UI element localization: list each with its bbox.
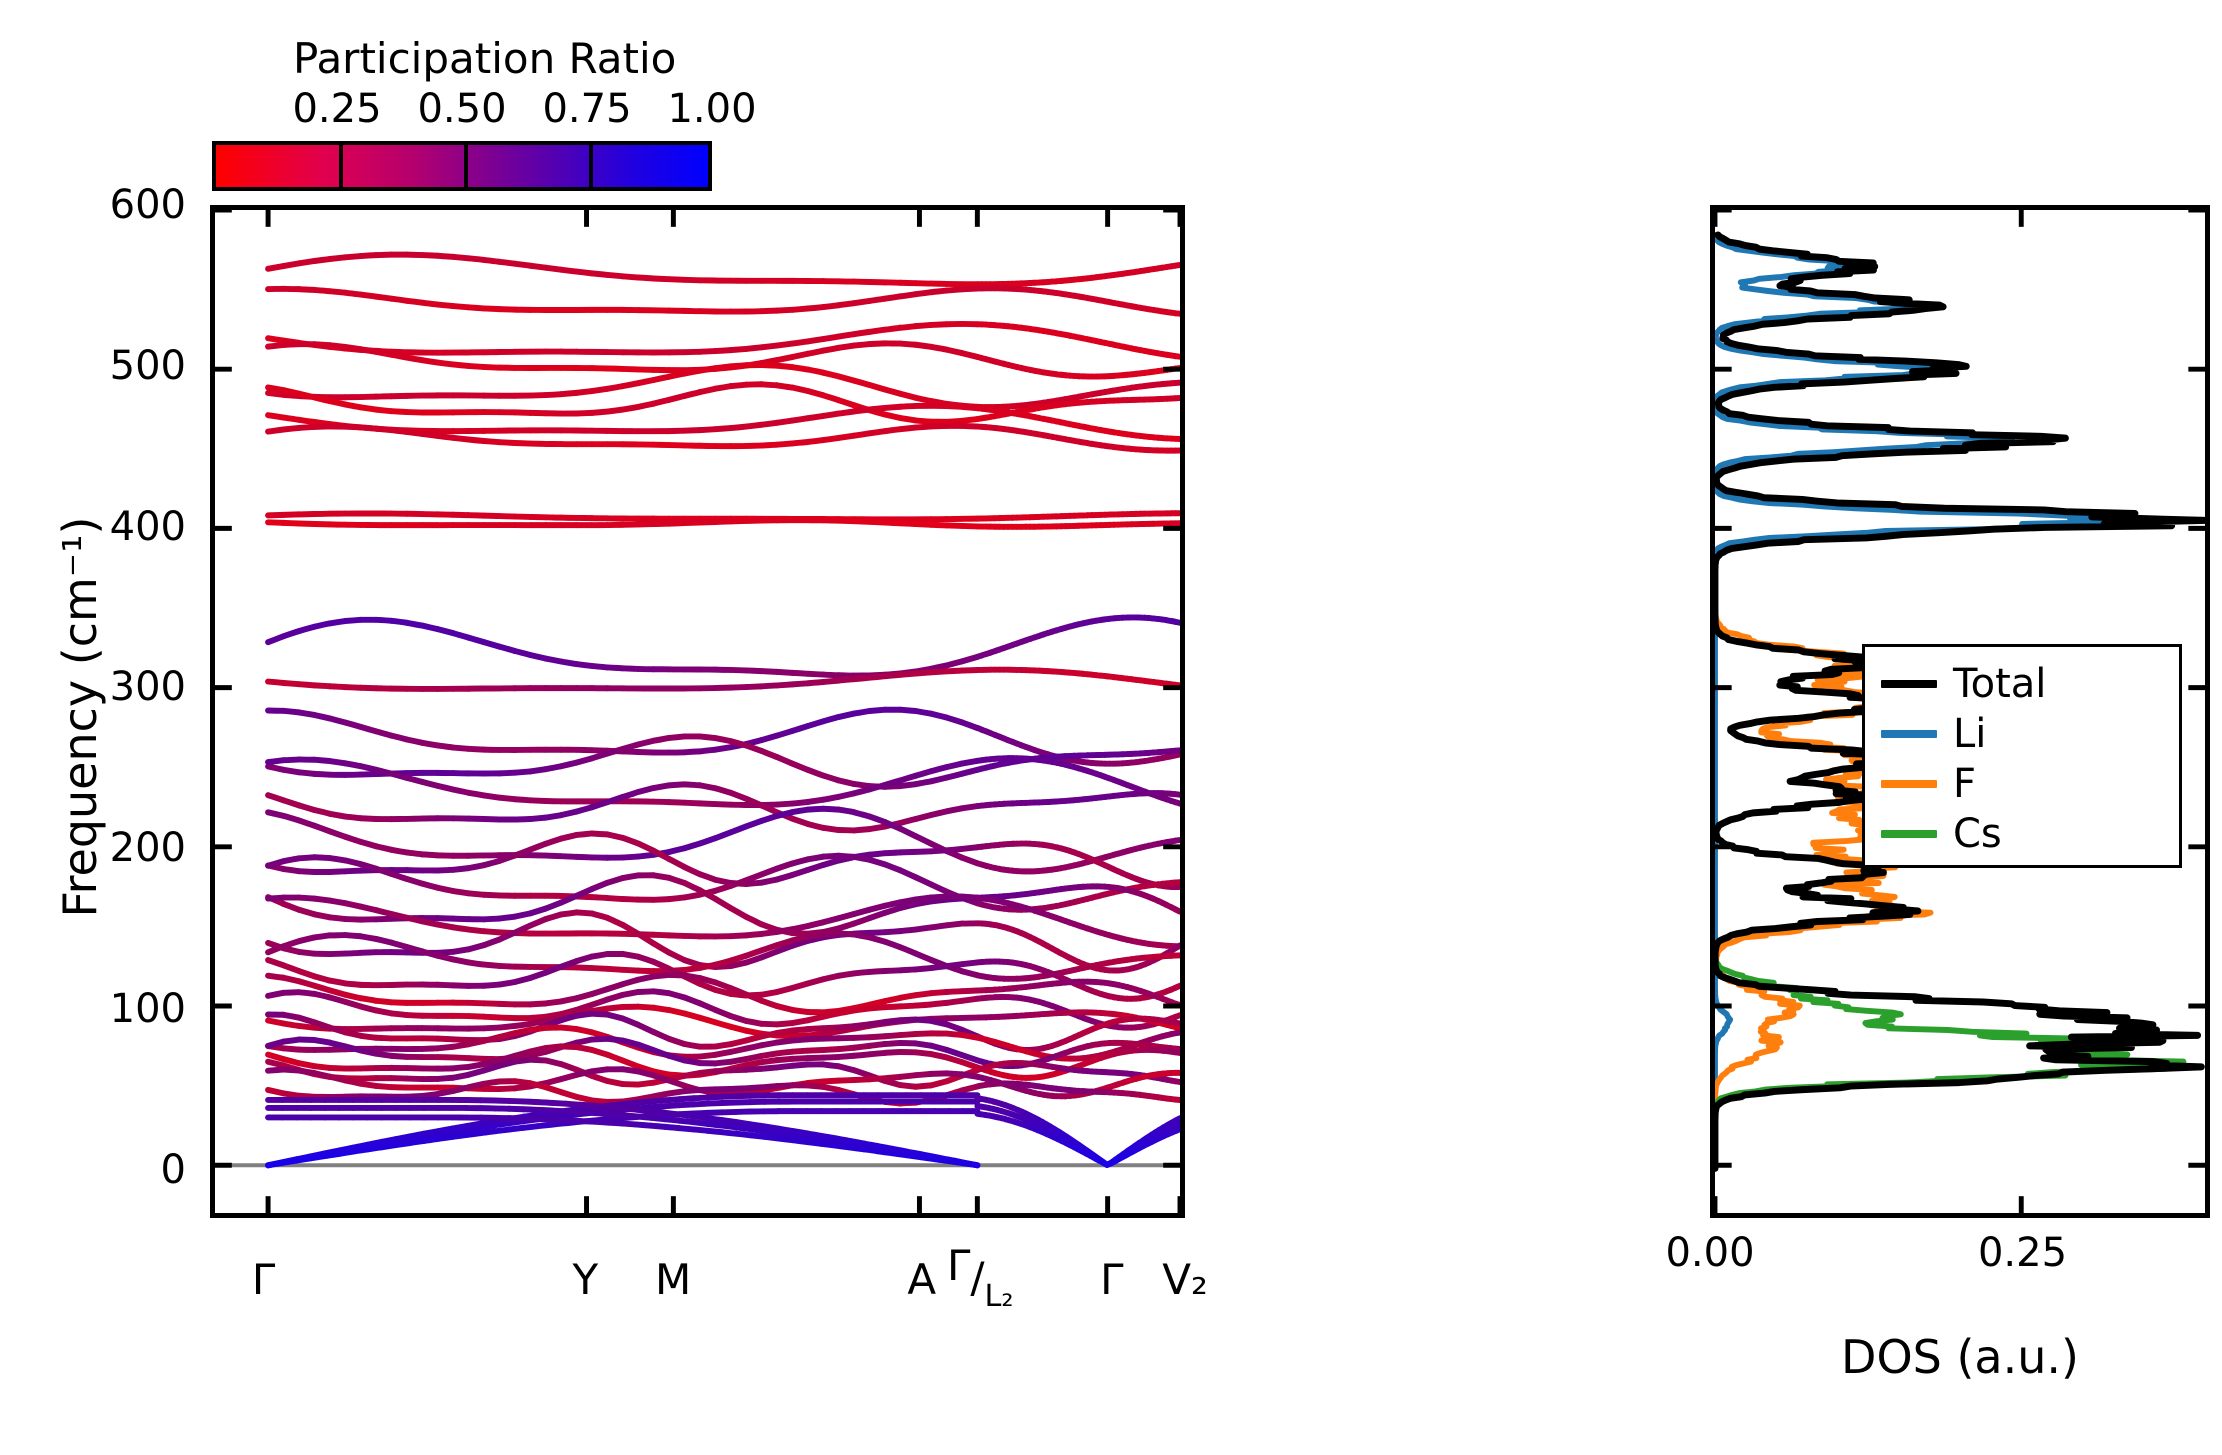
band-x-tick-label: Y	[573, 1255, 599, 1304]
band-x-tick-label: Γ	[1100, 1255, 1123, 1304]
band-x-tick-label: Γ/L₂	[947, 1255, 1014, 1304]
acoustic-band-segment	[1176, 1129, 1180, 1131]
dos-x-tick-label: 0.25	[1978, 1230, 2067, 1276]
legend-label: Li	[1953, 714, 1986, 754]
colorbar-tick-label: 0.50	[417, 86, 506, 132]
colorbar-divider	[464, 145, 468, 187]
phonon-band-segment	[1176, 1027, 1180, 1028]
legend-swatch-li	[1881, 730, 1937, 738]
band-y-tick-label: 200	[110, 825, 186, 871]
acoustic-band-segment	[963, 1163, 977, 1166]
phonon-band-segment	[1176, 265, 1180, 266]
colorbar	[212, 141, 712, 191]
dos-x-tick-label: 0.00	[1665, 1230, 1754, 1276]
colorbar-tick-labels: 0.250.500.751.00	[210, 86, 720, 134]
acoustic-band-segment	[1176, 1118, 1180, 1120]
phonon-band-segment	[1176, 986, 1180, 988]
dos-x-axis-label: DOS (a.u.)	[1710, 1330, 2210, 1384]
band-x-tick-label: Γ	[252, 1255, 275, 1304]
phonon-band-segment	[1176, 622, 1180, 623]
colorbar-gradient	[216, 145, 708, 187]
band-x-tick-label: A	[907, 1255, 936, 1304]
phonon-band-segment	[1176, 1015, 1180, 1017]
colorbar-tick-label: 0.75	[542, 86, 631, 132]
band-y-tick-label: 400	[110, 504, 186, 550]
phonon-band-segment	[1176, 802, 1180, 803]
band-x-tick-label: M	[655, 1255, 691, 1304]
band-structure-canvas	[215, 210, 1180, 1213]
legend-item-cs: Cs	[1865, 809, 2179, 859]
legend-label: Cs	[1953, 814, 2002, 854]
colorbar-divider	[589, 145, 593, 187]
band-y-tick-label: 0	[161, 1147, 186, 1193]
band-x-tick-label: V₂	[1162, 1255, 1208, 1304]
band-y-tick-label: 100	[110, 986, 186, 1032]
dos-legend: TotalLiFCs	[1862, 644, 2182, 868]
legend-label: F	[1953, 764, 1976, 804]
phonon-band-segment	[1176, 754, 1180, 755]
dos-x-tick-labels: 0.000.25	[1710, 1230, 2210, 1290]
band-y-tick-label: 600	[110, 182, 186, 228]
colorbar-title: Participation Ratio	[293, 34, 676, 83]
band-y-tick-label: 500	[110, 343, 186, 389]
phonon-band-segment	[1176, 356, 1180, 357]
colorbar-tick-label: 1.00	[667, 86, 756, 132]
colorbar-tick-label: 0.25	[292, 86, 381, 132]
phonon-band-segment	[1176, 1081, 1180, 1082]
colorbar-divider	[339, 145, 343, 187]
legend-item-total: Total	[1865, 659, 2179, 709]
phonon-band-segment	[1176, 909, 1180, 911]
phonon-band-segment	[1176, 945, 1180, 948]
band-y-tick-labels: 0100200300400500600	[0, 0, 186, 1455]
phonon-band-segment	[1176, 840, 1180, 841]
phonon-band-segment	[1176, 1023, 1180, 1024]
phonon-band-segment	[1176, 794, 1180, 795]
legend-swatch-cs	[1881, 830, 1937, 838]
legend-label: Total	[1953, 664, 2046, 704]
legend-swatch-total	[1881, 680, 1937, 688]
legend-item-f: F	[1865, 759, 2179, 809]
legend-swatch-f	[1881, 780, 1937, 788]
band-structure-plot	[210, 205, 1185, 1218]
legend-item-li: Li	[1865, 709, 2179, 759]
phonon-band-segment	[1176, 1052, 1180, 1053]
phonon-band-segment	[1176, 1032, 1180, 1033]
acoustic-band-segment	[1176, 1124, 1180, 1126]
band-y-tick-label: 300	[110, 664, 186, 710]
